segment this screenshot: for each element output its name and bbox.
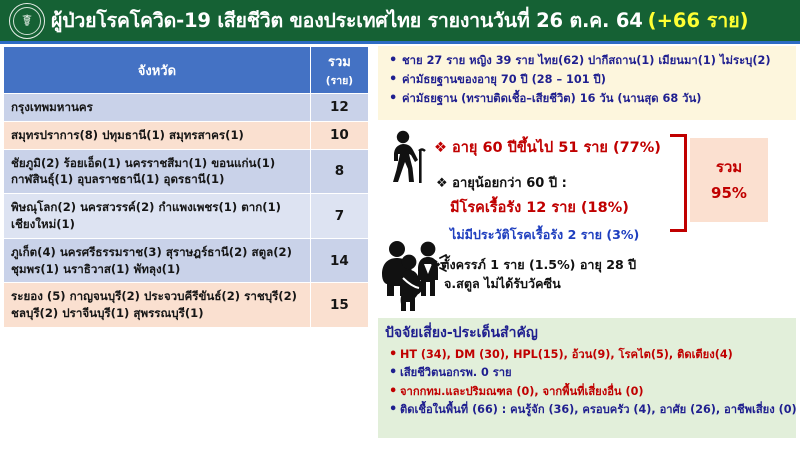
pregnant-woman-icon <box>392 254 432 312</box>
stat-pregnant-detail-text: จ.สตูล ไม่ได้รับวัคซีน <box>444 276 561 291</box>
combined-percentage-box: รวม 95% <box>690 138 768 222</box>
province-cell: ระยอง (5) กาญจนบุรี(2) ประจวบคีรีขันธ์(2… <box>4 283 311 328</box>
stat-pregnant-text: ❖ตั้งครรภ์ 1 ราย (1.5%) อายุ 28 ปี <box>430 257 636 272</box>
stat-pregnant-detail-line: จ.สตูล ไม่ได้รับวัคซีน <box>444 273 561 294</box>
risk-factors-list: HT (34), DM (30), HPL(15), อ้วน(9), โรคไ… <box>378 345 796 419</box>
column-header-total: รวม (ราย) <box>310 47 368 94</box>
new-cases-badge: (+66 ราย) <box>648 9 749 32</box>
table-row: ชัยภูมิ(2) ร้อยเอ็ด(1) นครราชสีมา(1) ขอน… <box>4 149 369 194</box>
age-statistics-section: ❖ อายุ 60 ปีขึ้นไป 51 ราย (77%) ❖ อายุน้… <box>378 128 796 314</box>
stat-elderly-text: ❖ อายุ 60 ปีขึ้นไป 51 ราย (77%) <box>434 140 661 156</box>
header-title-wrap: ผู้ป่วยโรคโควิด-19 เสียชีวิต ของประเทศไท… <box>51 5 749 36</box>
total-cell: 15 <box>310 283 368 328</box>
risk-factors-title: ปัจจัยเสี่ยง-ประเด็นสำคัญ <box>378 318 796 345</box>
total-cell: 14 <box>310 238 368 283</box>
province-cell: ภูเก็ต(4) นครศรีธรรมราช(3) สุราษฎร์ธานี(… <box>4 238 311 283</box>
stat-chronic-text: มีโรคเรื้อรัง 12 ราย (18%) <box>450 200 629 216</box>
page-title: ผู้ป่วยโรคโควิด-19 เสียชีวิต ของประเทศไท… <box>51 9 643 32</box>
province-cell: พิษณุโลก(2) นครสวรรค์(2) กำแพงเพชร(1) ตา… <box>4 194 311 239</box>
demographics-summary-box: ชาย 27 ราย หญิง 39 ราย ไทย(62) ปากีสถาน(… <box>378 46 796 120</box>
total-cell: 10 <box>310 121 368 149</box>
table-row: ภูเก็ต(4) นครศรีธรรมราช(3) สุราษฎร์ธานี(… <box>4 238 369 283</box>
stat-under60-line: ❖ อายุน้อยกว่า 60 ปี : <box>436 172 567 193</box>
demographics-item: ค่ามัธยฐาน (ทราบติดเชื้อ–เสียชีวิต) 16 ว… <box>400 90 792 107</box>
column-header-province: จังหวัด <box>4 47 311 94</box>
stat-under60-text: ❖ อายุน้อยกว่า 60 ปี : <box>436 176 567 191</box>
risk-factors-box: ปัจจัยเสี่ยง-ประเด็นสำคัญ HT (34), DM (3… <box>378 318 796 438</box>
total-cell: 8 <box>310 149 368 194</box>
infographic-page: ☤ ผู้ป่วยโรคโควิด-19 เสียชีวิต ของประเทศ… <box>0 0 800 450</box>
risk-factor-item: ติดเชื้อในพื้นที่ (66) : คนรู้จัก (36), … <box>400 401 792 418</box>
column-header-total-unit: (ราย) <box>313 72 366 89</box>
summary-bracket <box>670 134 687 232</box>
demographics-list: ชาย 27 ราย หญิง 39 ราย ไทย(62) ปากีสถาน(… <box>378 46 796 107</box>
table-body: กรุงเทพมหานคร12สมุทรปราการ(8) ปทุมธานี(1… <box>4 94 369 328</box>
stat-nochronic-line: ไม่มีประวัติโรคเรื้อรัง 2 ราย (3%) <box>450 224 639 245</box>
total-cell: 12 <box>310 94 368 122</box>
stat-chronic-line: มีโรคเรื้อรัง 12 ราย (18%) <box>450 196 629 219</box>
header-accent-line <box>0 41 800 44</box>
province-cell: ชัยภูมิ(2) ร้อยเอ็ด(1) นครราชสีมา(1) ขอน… <box>4 149 311 194</box>
stat-pregnant-line: ❖ตั้งครรภ์ 1 ราย (1.5%) อายุ 28 ปี <box>430 254 636 275</box>
ministry-logo-icon: ☤ <box>9 3 45 39</box>
demographics-item: ชาย 27 ราย หญิง 39 ราย ไทย(62) ปากีสถาน(… <box>400 52 792 69</box>
province-cell: สมุทรปราการ(8) ปทุมธานี(1) สมุทรสาคร(1) <box>4 121 311 149</box>
combined-value: 95% <box>711 180 747 206</box>
stat-nochronic-text: ไม่มีประวัติโรคเรื้อรัง 2 ราย (3%) <box>450 227 639 242</box>
page-header: ☤ ผู้ป่วยโรคโควิด-19 เสียชีวิต ของประเทศ… <box>0 0 800 41</box>
risk-factor-item: จากกทม.และปริมณฑล (0), จากพื้นที่เสี่ยงอ… <box>400 383 792 400</box>
combined-label: รวม <box>716 154 742 180</box>
risk-factor-item: เสียชีวิตนอกรพ. 0 ราย <box>400 364 792 381</box>
stat-elderly-line: ❖ อายุ 60 ปีขึ้นไป 51 ราย (77%) <box>434 136 661 159</box>
elderly-person-with-cane-icon <box>384 130 430 184</box>
risk-factor-item: HT (34), DM (30), HPL(15), อ้วน(9), โรคไ… <box>400 346 792 363</box>
table-row: พิษณุโลก(2) นครสวรรค์(2) กำแพงเพชร(1) ตา… <box>4 194 369 239</box>
province-cell: กรุงเทพมหานคร <box>4 94 311 122</box>
table-header-row: จังหวัด รวม (ราย) <box>4 47 369 94</box>
right-panel: ชาย 27 ราย หญิง 39 ราย ไทย(62) ปากีสถาน(… <box>378 46 796 446</box>
table-row: ระยอง (5) กาญจนบุรี(2) ประจวบคีรีขันธ์(2… <box>4 283 369 328</box>
column-header-total-label: รวม <box>328 55 351 70</box>
table-row: สมุทรปราการ(8) ปทุมธานี(1) สมุทรสาคร(1)1… <box>4 121 369 149</box>
demographics-item: ค่ามัธยฐานของอายุ 70 ปี (28 – 101 ปี) <box>400 71 792 88</box>
province-death-table: จังหวัด รวม (ราย) กรุงเทพมหานคร12สมุทรปร… <box>3 46 369 328</box>
table-row: กรุงเทพมหานคร12 <box>4 94 369 122</box>
total-cell: 7 <box>310 194 368 239</box>
